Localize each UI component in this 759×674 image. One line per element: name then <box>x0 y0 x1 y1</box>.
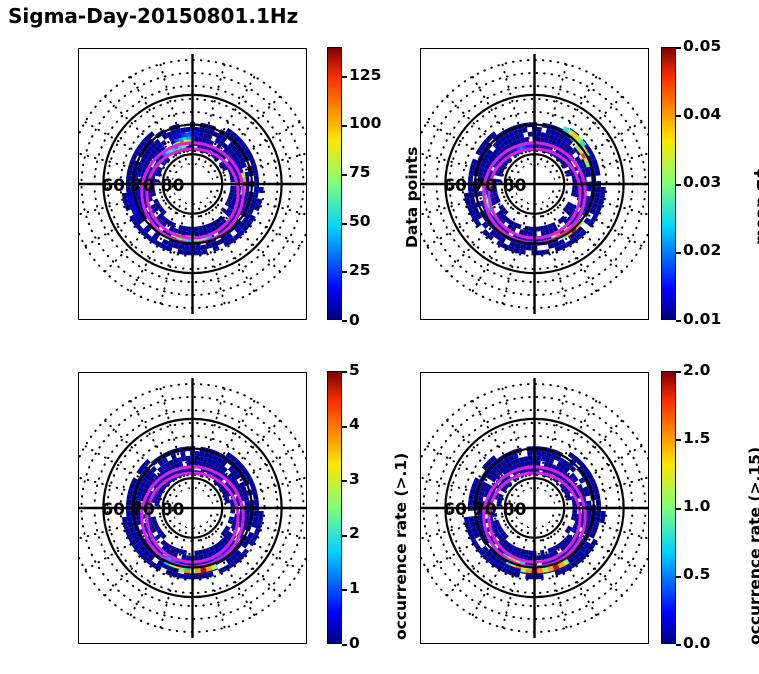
polar-panel-mean-sigma-phi: 607080 <box>420 48 649 320</box>
colorbar-tick-0-3: 75 <box>349 165 371 181</box>
svg-text:70: 70 <box>473 500 497 520</box>
polar-plot-2: 607080 <box>79 373 306 643</box>
svg-text:80: 80 <box>161 500 185 520</box>
colorbar-gradient-2 <box>328 372 341 643</box>
svg-text:60: 60 <box>443 176 467 196</box>
polar-panel-occurrence-rate-015: 607080 <box>420 372 649 644</box>
figure-canvas: Sigma-Day-20150801.1Hz 607080 0 25 50 75… <box>0 0 759 674</box>
colorbar-tick-0-4: 100 <box>349 116 381 132</box>
colorbar-tick-2-4: 4 <box>349 417 360 433</box>
colorbar-tick-1-3: 0.04 <box>683 107 721 123</box>
colorbar-ticks-3: 0.0 0.5 1.0 1.5 2.0 <box>676 371 746 644</box>
svg-text:60: 60 <box>101 176 125 196</box>
colorbar-ticks-0: 0 25 50 75 100 125 <box>342 47 402 320</box>
svg-text:80: 80 <box>503 176 527 196</box>
colorbar-tick-2-5: 5 <box>349 363 360 379</box>
colorbar-tick-2-1: 1 <box>349 581 360 597</box>
colorbar-tick-3-4: 2.0 <box>683 363 710 379</box>
colorbar-tick-1-2: 0.03 <box>683 175 721 191</box>
colorbar-tick-1-1: 0.02 <box>683 243 721 259</box>
colorbar-3 <box>661 371 676 644</box>
svg-text:80: 80 <box>161 176 185 196</box>
polar-plot-0: 607080 <box>79 49 306 319</box>
colorbar-label-2: occurrence rate (>.1) <box>392 453 410 640</box>
colorbar-label-3: occurrence rate (>.15) <box>746 447 759 645</box>
svg-text:70: 70 <box>131 500 155 520</box>
colorbar-label-1: mean σϕ <box>752 167 759 245</box>
polar-panel-data-points: 607080 <box>78 48 307 320</box>
svg-text:70: 70 <box>473 176 497 196</box>
colorbar-gradient-1 <box>662 48 675 319</box>
colorbar-tick-3-3: 1.5 <box>683 431 710 447</box>
colorbar-2 <box>327 371 342 644</box>
colorbar-tick-3-2: 1.0 <box>683 499 710 515</box>
figure-title: Sigma-Day-20150801.1Hz <box>8 4 298 28</box>
colorbar-tick-0-0: 0 <box>349 313 360 329</box>
colorbar-tick-0-1: 25 <box>349 263 371 279</box>
svg-text:80: 80 <box>503 500 527 520</box>
colorbar-tick-1-4: 0.05 <box>683 39 721 55</box>
colorbar-tick-2-0: 0 <box>349 636 360 652</box>
polar-plot-3: 607080 <box>421 373 648 643</box>
colorbar-tick-0-2: 50 <box>349 214 371 230</box>
svg-text:60: 60 <box>101 500 125 520</box>
colorbar-1 <box>661 47 676 320</box>
colorbar-gradient-3 <box>662 372 675 643</box>
colorbar-tick-2-2: 2 <box>349 526 360 542</box>
svg-text:60: 60 <box>443 500 467 520</box>
colorbar-label-0: Data points <box>403 147 421 248</box>
polar-panel-occurrence-rate-01: 607080 <box>78 372 307 644</box>
colorbar-tick-1-0: 0.01 <box>683 312 721 328</box>
colorbar-tick-2-3: 3 <box>349 472 360 488</box>
svg-text:70: 70 <box>131 176 155 196</box>
colorbar-0 <box>327 47 342 320</box>
colorbar-tick-3-1: 0.5 <box>683 567 710 583</box>
colorbar-tick-3-0: 0.0 <box>683 636 710 652</box>
colorbar-gradient-0 <box>328 48 341 319</box>
colorbar-tick-0-5: 125 <box>349 68 381 84</box>
colorbar-ticks-1: 0.01 0.02 0.03 0.04 0.05 <box>676 47 746 320</box>
polar-plot-1: 607080 <box>421 49 648 319</box>
